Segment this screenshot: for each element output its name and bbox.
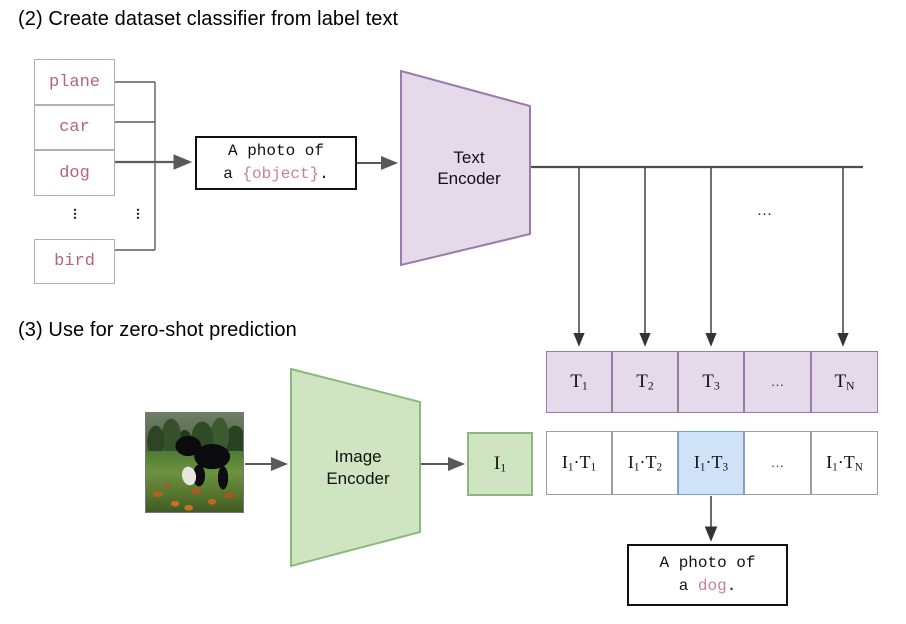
t-cell-3-text: T3: [702, 371, 720, 394]
prediction-label: dog: [698, 577, 727, 595]
label-box-car[interactable]: car: [34, 105, 115, 150]
prompt-object-slot: {object}: [242, 165, 319, 183]
prompt-line-2: a {object}.: [223, 163, 329, 186]
sim-cell-3-selected[interactable]: I1·T3: [678, 431, 744, 495]
t-cell-ellipsis: …: [744, 351, 811, 413]
text-encoder-line-2: Encoder: [437, 168, 500, 189]
t-cell-2-text: T2: [636, 371, 654, 394]
input-image-thumbnail[interactable]: [145, 412, 244, 513]
sim-cell-2-text: I1·T2: [628, 452, 662, 473]
label-box-bird[interactable]: bird: [34, 239, 115, 284]
text-encoder-label: Text Encoder: [437, 147, 500, 190]
label-list-ellipsis: ...: [62, 203, 88, 215]
prediction-line-1: A photo of: [659, 552, 755, 575]
label-box-plane[interactable]: plane: [34, 59, 115, 105]
image-encoder-line-2: Encoder: [326, 468, 389, 489]
image-embedding-box[interactable]: I1: [467, 432, 533, 496]
sim-cell-n-text: I1·TN: [826, 452, 863, 473]
sim-cell-2[interactable]: I1·T2: [612, 431, 678, 495]
text-encoder[interactable]: Text Encoder: [399, 69, 533, 267]
prompt-line2-suffix: .: [319, 165, 329, 183]
prediction-line-2: a dog.: [679, 575, 737, 598]
t-cell-n[interactable]: TN: [811, 351, 878, 413]
image-embedding-text: I1: [494, 453, 506, 476]
sim-cell-1-text: I1·T1: [562, 452, 596, 473]
similarity-row: I1·T1 I1·T2 I1·T3 … I1·TN: [546, 431, 878, 495]
t-cell-1[interactable]: T1: [546, 351, 612, 413]
prediction-box[interactable]: A photo of a dog.: [627, 544, 788, 606]
t-cell-3[interactable]: T3: [678, 351, 744, 413]
step3-title: (3) Use for zero-shot prediction: [18, 319, 297, 342]
prediction-line2-prefix: a: [679, 577, 698, 595]
bus-ellipsis-left: ...: [125, 203, 151, 215]
t-cell-ellipsis-text: …: [771, 374, 784, 390]
step2-title: (2) Create dataset classifier from label…: [18, 8, 398, 31]
label-box-dog[interactable]: dog: [34, 150, 115, 196]
image-encoder-label: Image Encoder: [326, 446, 389, 489]
text-encoder-line-1: Text: [437, 147, 500, 168]
prompt-line2-prefix: a: [223, 165, 242, 183]
bus-ellipsis: …: [757, 203, 772, 220]
sim-cell-ellipsis-text: …: [771, 455, 784, 471]
prediction-line2-suffix: .: [727, 577, 737, 595]
sim-cell-1[interactable]: I1·T1: [546, 431, 612, 495]
sim-cell-n[interactable]: I1·TN: [811, 431, 878, 495]
text-embedding-row: T1 T2 T3 … TN: [546, 351, 878, 413]
t-cell-1-text: T1: [570, 371, 588, 394]
prompt-line-1: A photo of: [228, 140, 324, 163]
sim-cell-3-text: I1·T3: [694, 452, 728, 473]
t-cell-n-text: TN: [834, 371, 854, 394]
prompt-template-box[interactable]: A photo of a {object}.: [195, 136, 357, 190]
t-cell-2[interactable]: T2: [612, 351, 678, 413]
image-encoder-line-1: Image: [326, 446, 389, 467]
image-encoder[interactable]: Image Encoder: [289, 367, 423, 568]
sim-cell-ellipsis: …: [744, 431, 811, 495]
